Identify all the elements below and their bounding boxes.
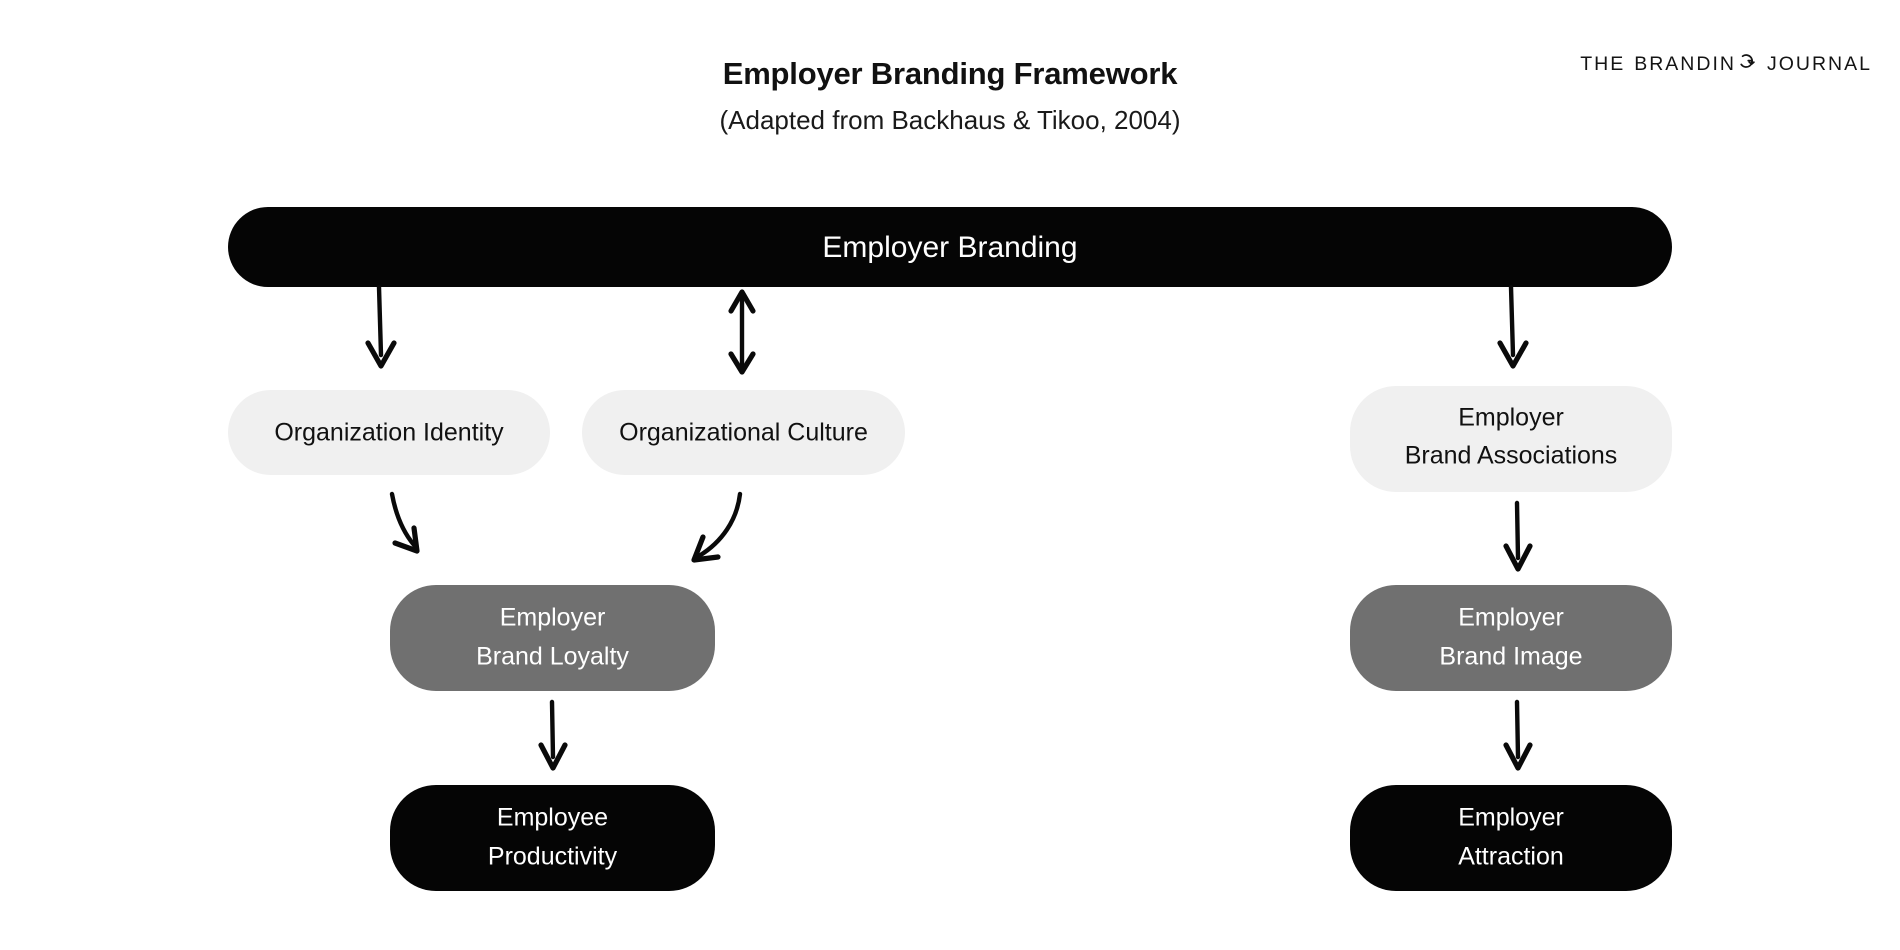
node-organizational-culture[interactable]: Organizational Culture [582,390,905,475]
node-label-employee-productivity-line1: Employee [497,804,608,832]
node-label-employer-brand-image-line2: Brand Image [1439,643,1582,671]
edge-branding-to-employer-brand-associations [1500,287,1526,366]
node-employer-attraction[interactable]: Employer Attraction [1350,785,1672,891]
edge-organization-identity-to-brand-loyalty [392,494,417,551]
edge-branding-to-organization-identity [368,287,394,366]
edge-organizational-culture-to-brand-loyalty [694,494,740,560]
node-label-employer-brand-associations-line1: Employer [1458,404,1564,432]
node-organization-identity[interactable]: Organization Identity [228,390,550,475]
node-label-employer-brand-loyalty-line1: Employer [500,604,606,632]
node-label-employer-attraction-line2: Attraction [1458,843,1564,871]
node-label-organizational-culture: Organizational Culture [619,419,868,447]
edge-brand-image-to-employer-attraction [1506,702,1530,768]
edge-branding-to-organizational-culture-bidirectional [731,292,753,372]
node-employer-brand-image[interactable]: Employer Brand Image [1350,585,1672,691]
node-label-employer-brand-loyalty-line2: Brand Loyalty [476,643,629,671]
edge-brand-associations-to-brand-image [1506,503,1530,569]
diagram-canvas: Employer Branding Framework (Adapted fro… [0,0,1900,950]
node-label-organization-identity: Organization Identity [274,419,504,447]
node-employer-brand-loyalty[interactable]: Employer Brand Loyalty [390,585,715,691]
node-label-employer-brand-associations-line2: Brand Associations [1405,442,1618,470]
node-employer-brand-associations[interactable]: Employer Brand Associations [1350,386,1672,492]
node-label-employer-brand-image-line1: Employer [1458,604,1564,632]
node-employer-branding[interactable]: Employer Branding [228,207,1672,287]
edge-brand-loyalty-to-employee-productivity [541,702,565,768]
node-label-employer-attraction-line1: Employer [1458,804,1564,832]
node-label-employee-productivity-line2: Productivity [488,843,618,871]
node-label-employer-branding: Employer Branding [822,231,1077,264]
framework-diagram: Employer Branding Organization Identity … [0,0,1900,950]
node-employee-productivity[interactable]: Employee Productivity [390,785,715,891]
